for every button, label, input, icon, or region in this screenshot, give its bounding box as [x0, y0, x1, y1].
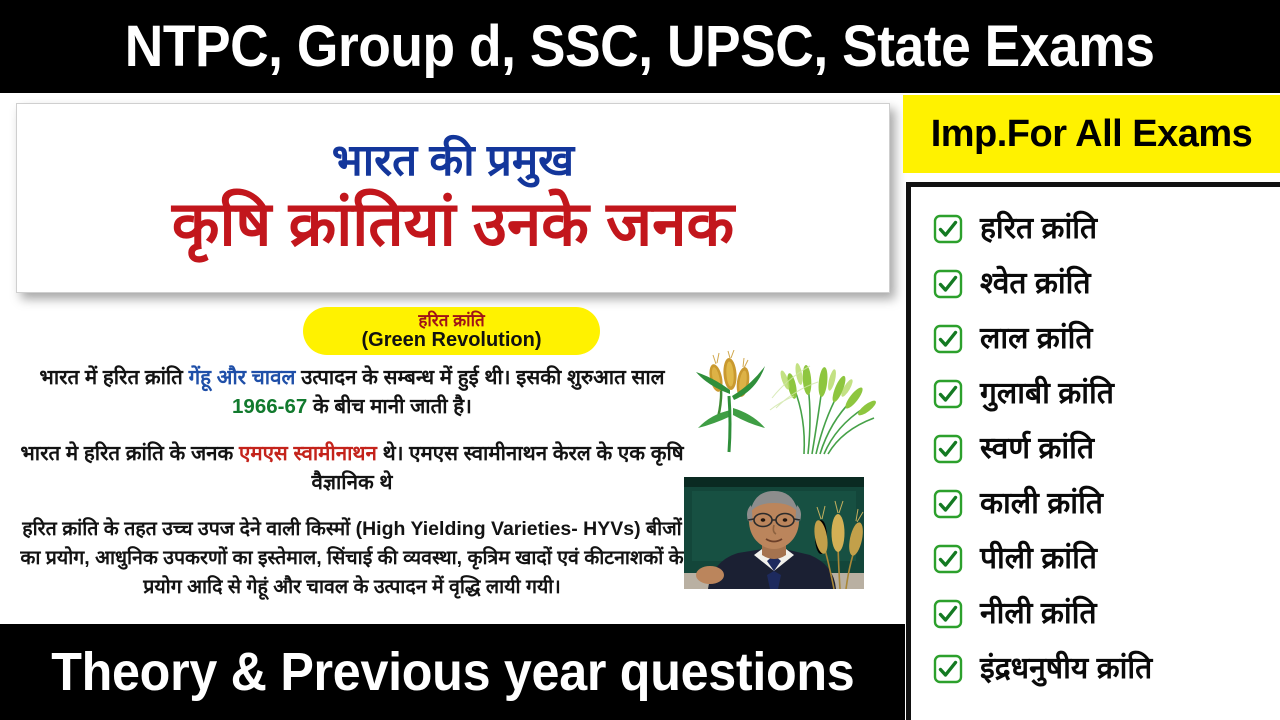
slide-canvas: NTPC, Group d, SSC, UPSC, State Exams भा…	[0, 0, 1280, 720]
section-badge: हरित क्रांति (Green Revolution)	[303, 307, 600, 355]
list-item[interactable]: हरित क्रांति	[933, 201, 1280, 256]
checkbox-checked-icon[interactable]	[933, 269, 963, 299]
paragraph-3: हरित क्रांति के तहत उच्च उपज देने वाली क…	[18, 515, 686, 602]
top-banner-title: NTPC, Group d, SSC, UPSC, State Exams	[125, 18, 1155, 76]
paragraph-1-segment-4: के बीच मानी जाती है।	[307, 395, 472, 418]
right-panel-header-label: Imp.For All Exams	[931, 115, 1253, 153]
paragraph-1-segment-2: उत्पादन के सम्बन्ध में हुई थी।	[295, 366, 510, 389]
list-item-label: नीली क्रांति	[980, 599, 1097, 629]
top-banner: NTPC, Group d, SSC, UPSC, State Exams	[0, 0, 1280, 93]
list-item-label: काली क्रांति	[980, 489, 1103, 519]
list-item-label: इंद्रधनुषीय क्रांति	[980, 654, 1152, 684]
paragraph-2-segment-1: भारत मे हरित क्रांति के जनक	[20, 442, 239, 465]
bottom-banner-title: Theory & Previous year questions	[51, 645, 854, 699]
list-item[interactable]: स्वर्ण क्रांति	[933, 421, 1280, 476]
list-item[interactable]: पीली क्रांति	[933, 531, 1280, 586]
list-item[interactable]: नीली क्रांति	[933, 586, 1280, 641]
list-item-label: पीली क्रांति	[980, 544, 1097, 574]
paragraph-2: भारत मे हरित क्रांति के जनक एमएस स्वामीन…	[18, 439, 686, 497]
list-item-label: गुलाबी क्रांति	[980, 379, 1114, 409]
checkbox-checked-icon[interactable]	[933, 544, 963, 574]
paragraph-1-highlight-crops: गेंहू और चावल	[189, 366, 296, 389]
checkbox-checked-icon[interactable]	[933, 379, 963, 409]
list-item[interactable]: इंद्रधनुषीय क्रांति	[933, 641, 1280, 696]
list-item-label: हरित क्रांति	[980, 214, 1097, 244]
checkbox-checked-icon[interactable]	[933, 214, 963, 244]
paragraph-1-segment-1: भारत में हरित क्रांति	[39, 366, 188, 389]
paragraph-2-highlight-person: एमएस स्वामीनाथन	[239, 442, 377, 465]
list-item-label: श्वेत क्रांति	[980, 269, 1091, 299]
body-content: भारत में हरित क्रांति गेंहू और चावल उत्प…	[18, 363, 686, 602]
title-heading: कृषि क्रांतियां उनके जनक	[172, 189, 734, 260]
paragraph-1-segment-3: इसकी शुरुआत साल	[516, 366, 664, 389]
checkbox-checked-icon[interactable]	[933, 489, 963, 519]
list-item-label: लाल क्रांति	[980, 324, 1092, 354]
section-badge-hindi-label: हरित क्रांति	[418, 312, 484, 330]
checkbox-checked-icon[interactable]	[933, 654, 963, 684]
checkbox-checked-icon[interactable]	[933, 599, 963, 629]
list-item[interactable]: लाल क्रांति	[933, 311, 1280, 366]
revolutions-checklist-panel: हरित क्रांति श्वेत क्रांति लाल क्रांति	[906, 182, 1280, 720]
wheat-rice-illustration-icon	[686, 350, 886, 460]
list-item[interactable]: काली क्रांति	[933, 476, 1280, 531]
list-item[interactable]: श्वेत क्रांति	[933, 256, 1280, 311]
paragraph-1: भारत में हरित क्रांति गेंहू और चावल उत्प…	[18, 363, 686, 421]
paragraph-1-highlight-year: 1966-67	[232, 395, 307, 418]
title-card: भारत की प्रमुख कृषि क्रांतियां उनके जनक	[16, 103, 890, 293]
list-item-label: स्वर्ण क्रांति	[980, 434, 1094, 464]
bottom-banner: Theory & Previous year questions	[0, 624, 905, 720]
right-panel-header: Imp.For All Exams	[903, 95, 1280, 173]
title-subheading: भारत की प्रमुख	[332, 136, 574, 187]
list-item[interactable]: गुलाबी क्रांति	[933, 366, 1280, 421]
section-badge-english-label: (Green Revolution)	[361, 329, 541, 351]
checkbox-checked-icon[interactable]	[933, 434, 963, 464]
ms-swaminathan-photo	[684, 477, 864, 589]
checkbox-checked-icon[interactable]	[933, 324, 963, 354]
